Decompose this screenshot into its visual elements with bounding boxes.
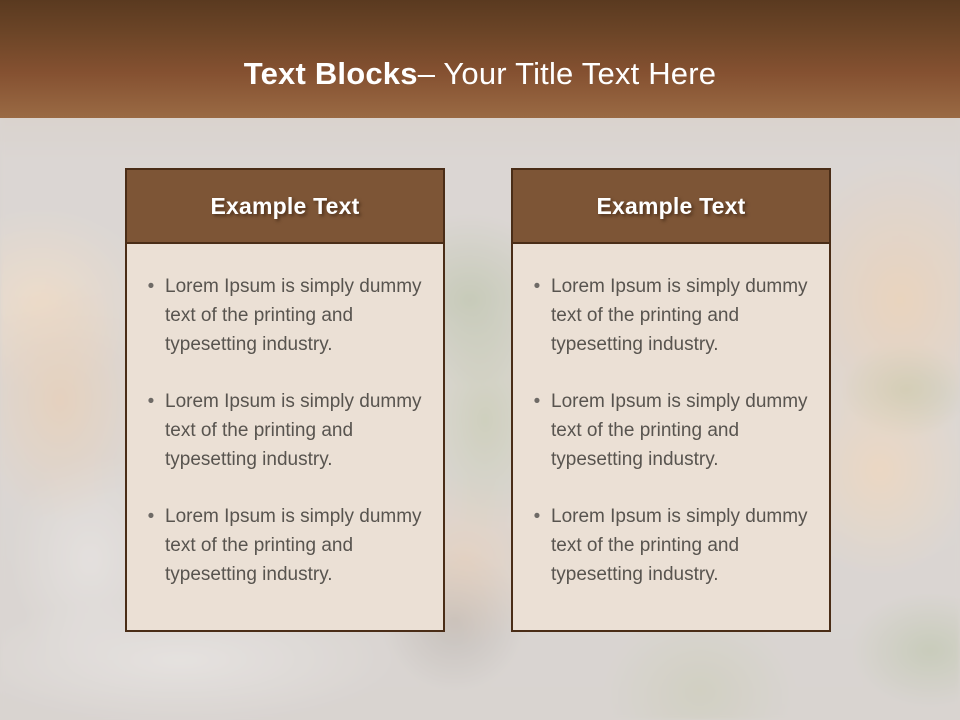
page-title: Text Blocks – Your Title Text Here [0, 0, 960, 118]
list-item: • Lorem Ipsum is simply dummy text of th… [137, 502, 429, 589]
page-title-strong: Text Blocks [244, 56, 418, 92]
page-title-rest: – Your Title Text Here [418, 56, 717, 92]
list-item-text: Lorem Ipsum is simply dummy text of the … [551, 272, 815, 359]
list-item-text: Lorem Ipsum is simply dummy text of the … [551, 502, 815, 589]
card-body-left: • Lorem Ipsum is simply dummy text of th… [127, 244, 443, 630]
bullet-icon: • [523, 387, 551, 416]
list-item: • Lorem Ipsum is simply dummy text of th… [523, 387, 815, 474]
bullet-icon: • [137, 387, 165, 416]
list-item: • Lorem Ipsum is simply dummy text of th… [523, 272, 815, 359]
bullet-icon: • [137, 502, 165, 531]
list-item-text: Lorem Ipsum is simply dummy text of the … [165, 272, 429, 359]
list-item: • Lorem Ipsum is simply dummy text of th… [523, 502, 815, 589]
card-header-label: Example Text [211, 193, 360, 220]
text-block-card-left[interactable]: Example Text • Lorem Ipsum is simply dum… [125, 168, 445, 632]
text-block-card-right[interactable]: Example Text • Lorem Ipsum is simply dum… [511, 168, 831, 632]
list-item: • Lorem Ipsum is simply dummy text of th… [137, 387, 429, 474]
card-body-right: • Lorem Ipsum is simply dummy text of th… [513, 244, 829, 630]
list-item-text: Lorem Ipsum is simply dummy text of the … [165, 387, 429, 474]
card-header-label: Example Text [597, 193, 746, 220]
list-item-text: Lorem Ipsum is simply dummy text of the … [165, 502, 429, 589]
bullet-icon: • [523, 502, 551, 531]
bullet-icon: • [523, 272, 551, 301]
list-item-text: Lorem Ipsum is simply dummy text of the … [551, 387, 815, 474]
title-banner: Text Blocks – Your Title Text Here [0, 0, 960, 118]
bullet-icon: • [137, 272, 165, 301]
card-header-left: Example Text [127, 170, 443, 244]
presentation-slide: Text Blocks – Your Title Text Here Examp… [0, 0, 960, 720]
card-header-right: Example Text [513, 170, 829, 244]
list-item: • Lorem Ipsum is simply dummy text of th… [137, 272, 429, 359]
